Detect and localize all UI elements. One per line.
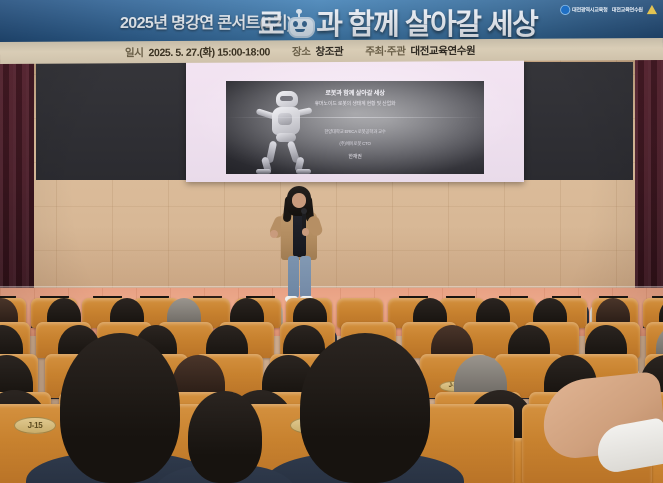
slide-title: 로봇과 함께 살아갈 세상 (226, 88, 484, 97)
slide-credit-name: 한재권 (226, 153, 484, 160)
slide-divider (226, 117, 484, 118)
host-value: 대전교육연수원 (410, 43, 475, 58)
place-label: 장소 (292, 44, 311, 59)
presenter-right-hand (302, 228, 309, 236)
audience-member-head (188, 391, 262, 483)
slide-credit-company: (주)에이로봇 CTO (226, 141, 484, 147)
presenter (272, 186, 326, 308)
place-value: 창조관 (315, 43, 343, 58)
stage-curtain-right (635, 50, 663, 293)
slide-credit-affiliation: 한양대학교 ERICA 로봇공학과 교수 (226, 129, 484, 135)
speaker-panel-left (36, 62, 186, 180)
event-info-strip: 일시 2025. 5. 27.(화) 15:00-18:00 장소 창조관 주최… (0, 38, 663, 64)
circle-emblem-text: 대전광역시교육청 (572, 6, 608, 14)
triangle-emblem-logo (647, 5, 657, 14)
banner-title-after: 과 함께 살아갈 세상 (316, 9, 537, 41)
stage-curtain-left (0, 50, 34, 293)
presenter-face (292, 193, 306, 208)
slide-subtitle: 휴머노이드 로봇의 생태계 현황 및 산업화 (226, 100, 484, 107)
wordmark-text: 대전교육연수원 (611, 6, 642, 14)
audience-seating: J-15J-16J-17J-18K-12K-13K-14K-15L-10L-11… (0, 296, 663, 483)
presenter-left-hand (270, 230, 278, 238)
wordmark-logo: 대전교육연수원 (611, 5, 642, 14)
lecture-hall-photo: 로봇과 함께 살아갈 세상 휴머노이드 로봇의 생태계 현황 및 산업화 한양대… (0, 0, 663, 483)
audience-member-head (60, 333, 180, 483)
date-value: 2025. 5. 27.(화) 15:00-18:00 (148, 44, 270, 60)
circle-emblem-logo: 대전광역시교육청 (560, 5, 607, 14)
robot-face-icon (284, 12, 315, 39)
date-label: 일시 (125, 45, 144, 60)
audience-member-head (300, 333, 430, 483)
presenter-right-leg (300, 256, 311, 298)
presenter-left-leg (288, 256, 299, 298)
banner-title-before: 로 (258, 9, 283, 41)
presentation-slide: 로봇과 함께 살아갈 세상 휴머노이드 로봇의 생태계 현황 및 산업화 한양대… (226, 81, 484, 174)
seat-number-plate: J-15 (14, 417, 56, 434)
projection-screen: 로봇과 함께 살아갈 세상 휴머노이드 로봇의 생태계 현황 및 산업화 한양대… (186, 58, 524, 182)
banner-logo-strip: 대전광역시교육청 대전교육연수원 (560, 5, 657, 14)
host-label: 주최·주관 (365, 43, 405, 58)
banner-title: 로과 함께 살아갈 세상 (258, 1, 537, 43)
